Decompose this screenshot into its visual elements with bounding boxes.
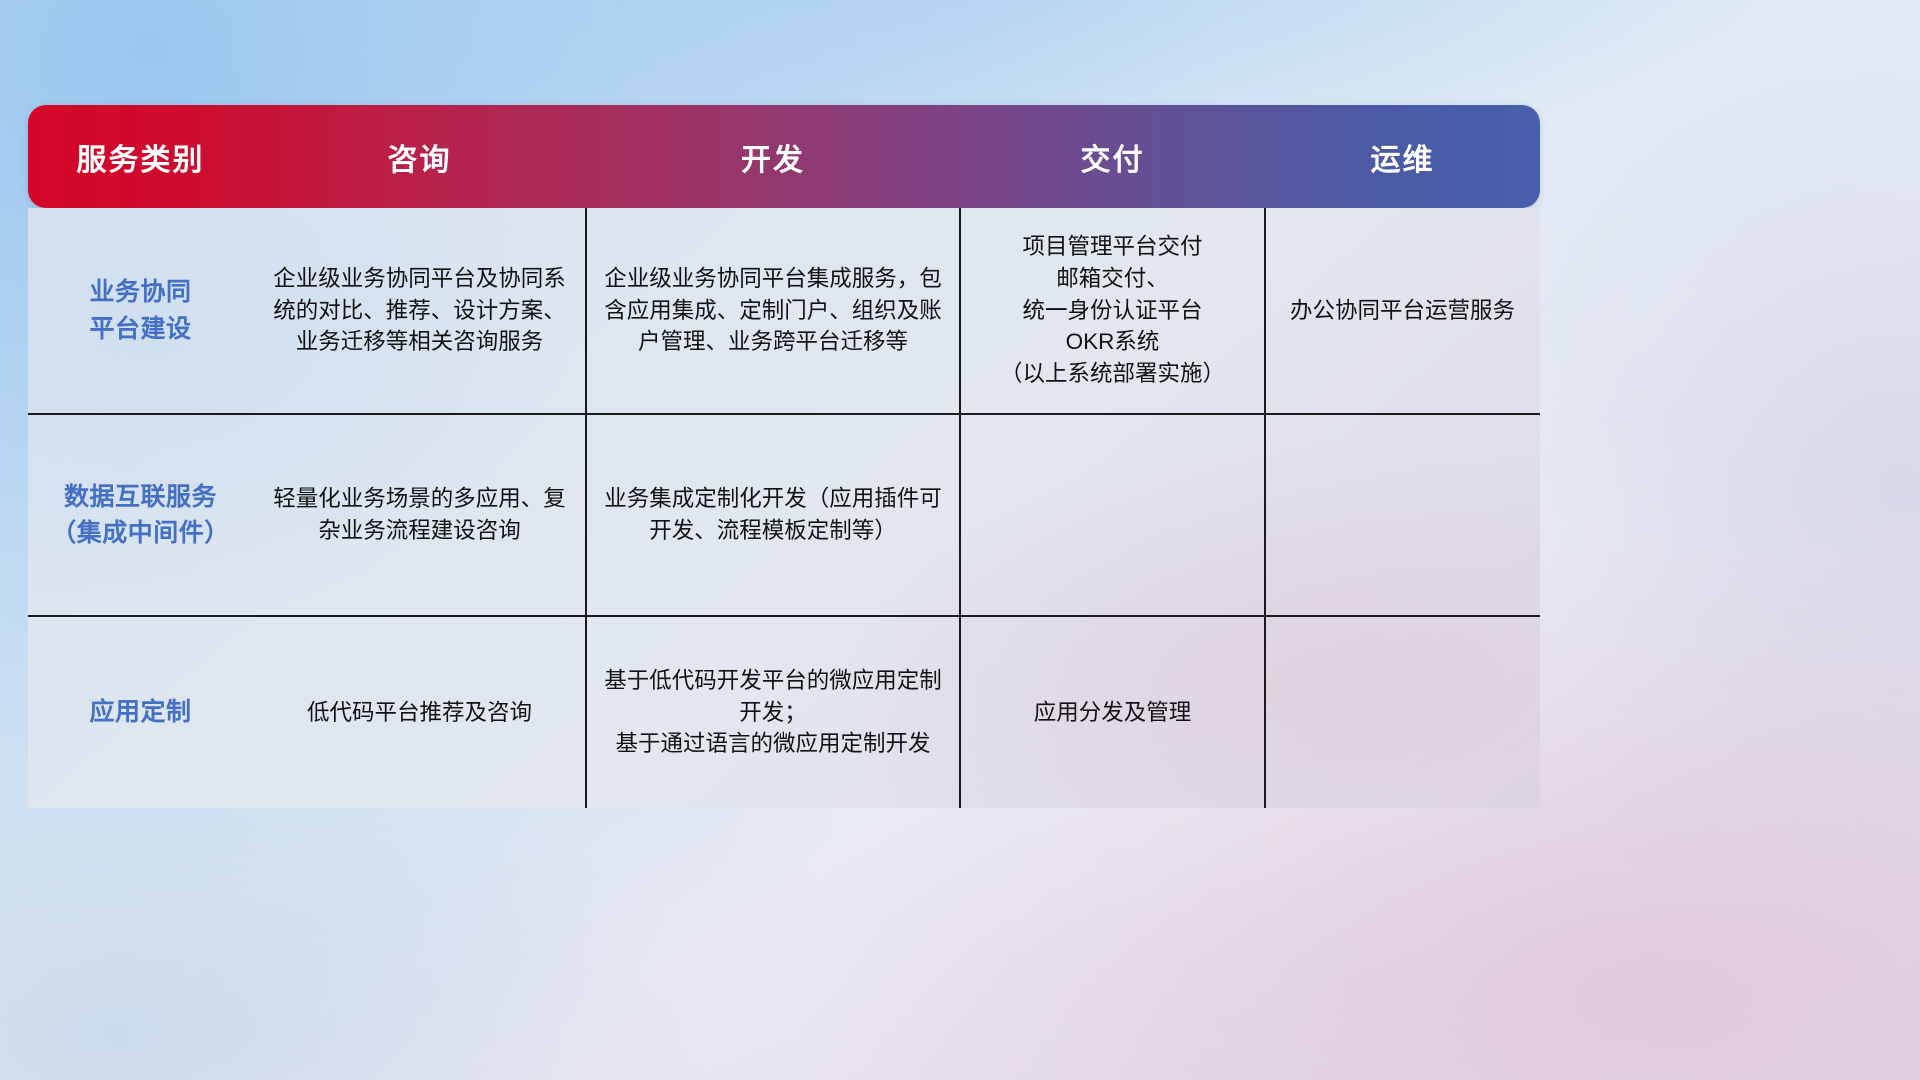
cell-delivery: 应用分发及管理 (960, 617, 1265, 808)
table-row: 业务协同平台建设 企业级业务协同平台及协同系统的对比、推荐、设计方案、业务迁移等… (28, 208, 1540, 413)
cell-consulting: 轻量化业务场景的多应用、复杂业务流程建设咨询 (253, 415, 586, 615)
column-header-development: 开发 (586, 105, 960, 208)
column-header-service-category: 服务类别 (28, 105, 253, 208)
row-category-label: 数据互联服务（集成中间件） (28, 415, 253, 615)
column-header-consulting: 咨询 (253, 105, 586, 208)
column-divider (585, 208, 587, 413)
column-divider (585, 617, 587, 808)
cell-operations: 办公协同平台运营服务 (1265, 208, 1540, 413)
table-body: 业务协同平台建设 企业级业务协同平台及协同系统的对比、推荐、设计方案、业务迁移等… (28, 208, 1540, 808)
service-matrix-table: 服务类别 咨询 开发 交付 运维 业务协同平台建设 企业级业务协同平台及协同系统… (28, 105, 1540, 808)
row-category-label: 应用定制 (28, 617, 253, 808)
column-divider (959, 415, 961, 615)
column-divider (585, 415, 587, 615)
cell-consulting: 企业级业务协同平台及协同系统的对比、推荐、设计方案、业务迁移等相关咨询服务 (253, 208, 586, 413)
cell-consulting: 低代码平台推荐及咨询 (253, 617, 586, 808)
table-header-row: 服务类别 咨询 开发 交付 运维 (28, 105, 1540, 208)
cell-delivery (960, 415, 1265, 615)
table-row: 应用定制 低代码平台推荐及咨询 基于低代码开发平台的微应用定制开发；基于通过语言… (28, 615, 1540, 808)
column-divider (1264, 415, 1266, 615)
column-divider (1264, 208, 1266, 413)
cell-development: 企业级业务协同平台集成服务，包含应用集成、定制门户、组织及账户管理、业务跨平台迁… (586, 208, 960, 413)
cell-operations (1265, 617, 1540, 808)
column-divider (959, 208, 961, 413)
column-header-delivery: 交付 (960, 105, 1265, 208)
column-divider (1264, 617, 1266, 808)
table-row: 数据互联服务（集成中间件） 轻量化业务场景的多应用、复杂业务流程建设咨询 业务集… (28, 413, 1540, 615)
cell-operations (1265, 415, 1540, 615)
cell-development: 业务集成定制化开发（应用插件可开发、流程模板定制等） (586, 415, 960, 615)
cell-development: 基于低代码开发平台的微应用定制开发；基于通过语言的微应用定制开发 (586, 617, 960, 808)
column-header-operations: 运维 (1265, 105, 1540, 208)
column-divider (959, 617, 961, 808)
cell-delivery: 项目管理平台交付邮箱交付、统一身份认证平台OKR系统（以上系统部署实施） (960, 208, 1265, 413)
row-category-label: 业务协同平台建设 (28, 208, 253, 413)
